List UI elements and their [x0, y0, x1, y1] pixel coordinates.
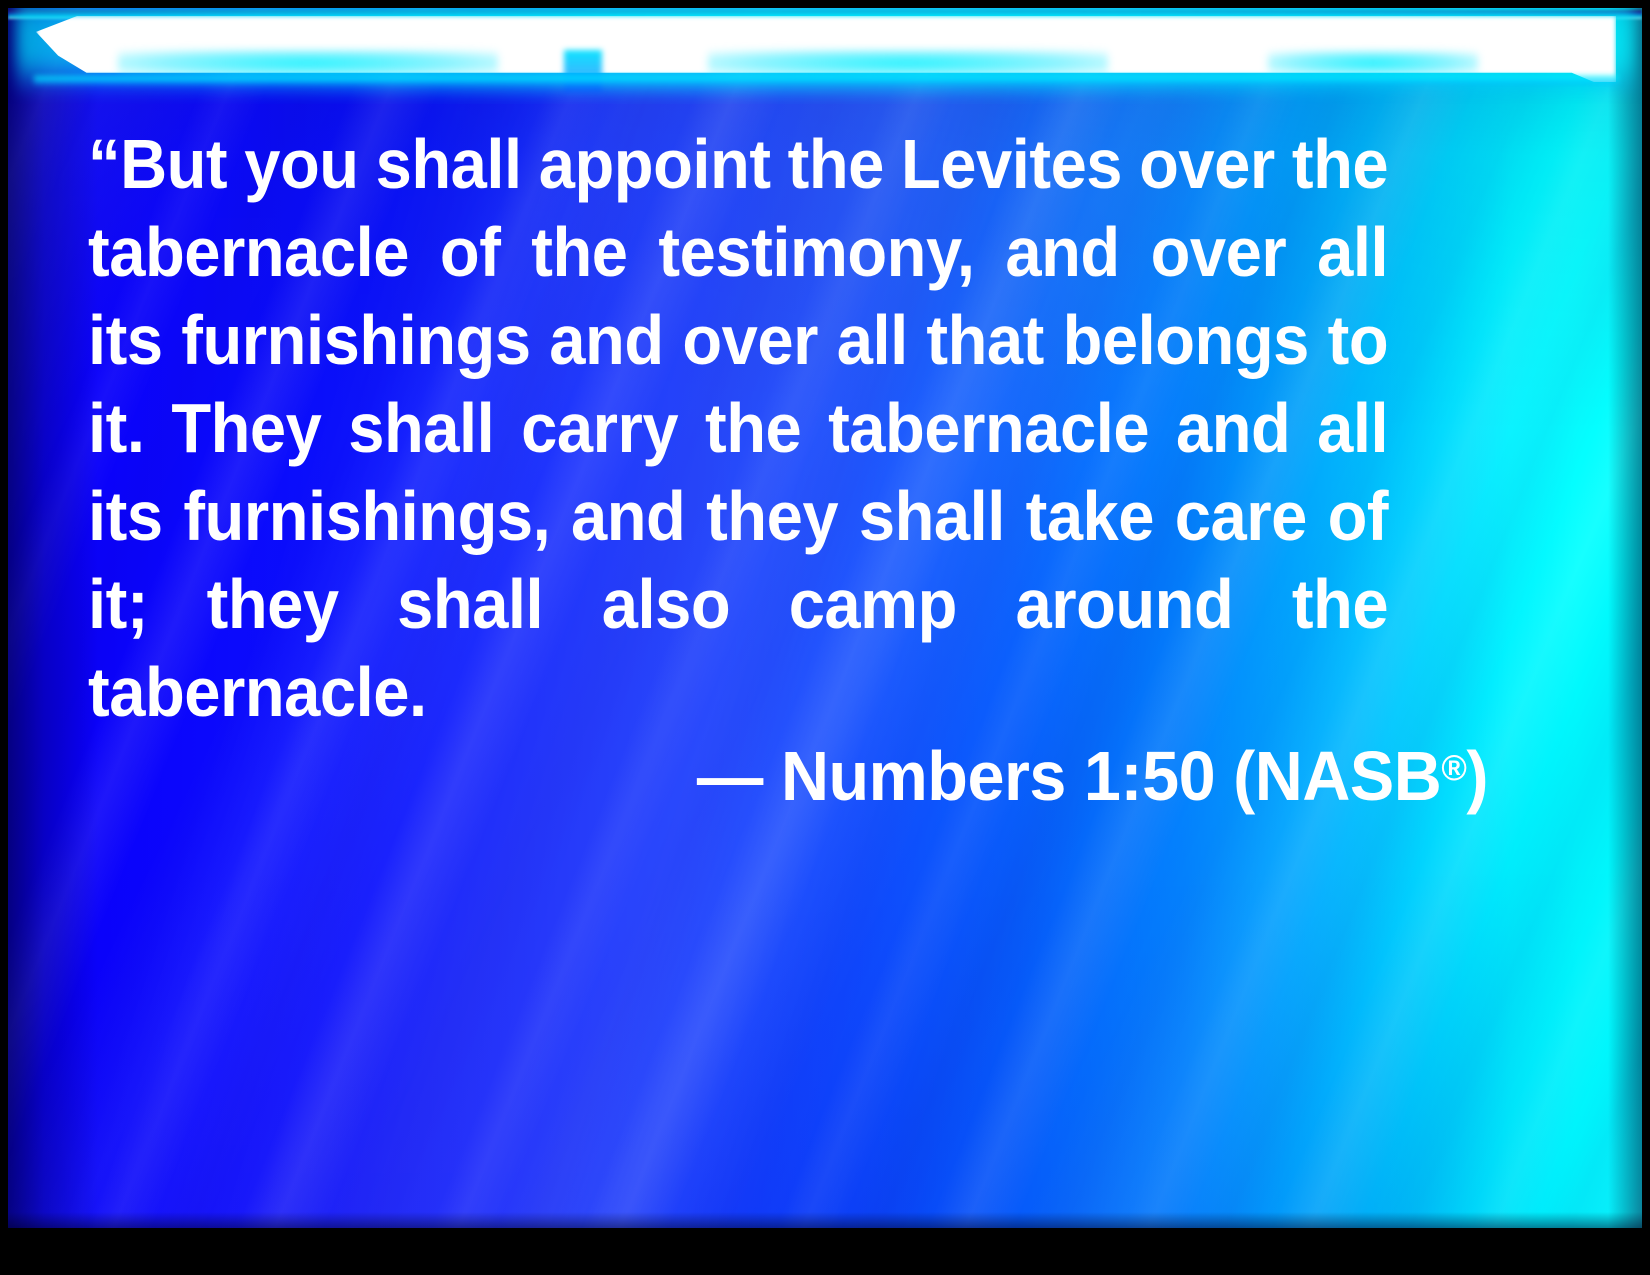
background-bottom-vignette	[8, 1212, 1642, 1228]
verse-word: care	[1175, 472, 1307, 560]
background-right-vignette	[1608, 8, 1642, 1228]
verse-word: and	[1176, 384, 1290, 472]
verse-word: of	[1328, 472, 1389, 560]
verse-word: shall	[348, 384, 494, 472]
verse-word: the	[705, 384, 801, 472]
verse-word: over	[1139, 120, 1275, 208]
verse-word: and	[1005, 208, 1119, 296]
verse-word: the	[1292, 120, 1388, 208]
glow-bar-cyan-blob-right	[1268, 51, 1478, 75]
verse-word: take	[1026, 472, 1154, 560]
verse-word: all	[1317, 208, 1388, 296]
background-left-vignette	[8, 8, 98, 1228]
glow-bar-cyan-blob-left	[118, 50, 498, 76]
verse-word: also	[602, 560, 730, 648]
verse-word: over	[1151, 208, 1287, 296]
verse-word: tabernacle	[88, 208, 409, 296]
verse-word: furnishings,	[183, 472, 550, 560]
verse-word: They	[171, 384, 321, 472]
verse-word: and	[549, 296, 663, 384]
verse-word: it.	[88, 384, 144, 472]
verse-slide: “ButyoushallappointtheLevitesoverthetabe…	[0, 0, 1650, 1275]
verse-word: all	[1317, 384, 1388, 472]
verse-word: testimony,	[658, 208, 974, 296]
verse-word: Levites	[901, 120, 1122, 208]
verse-word: its	[88, 472, 163, 560]
verse-word: all	[837, 296, 908, 384]
verse-line: tabernacle.	[88, 648, 1388, 736]
attribution-dash: —	[697, 737, 763, 815]
verse-word: you	[244, 120, 358, 208]
attribution-reference: 1:50	[1084, 737, 1215, 815]
verse-word: the	[1292, 560, 1388, 648]
registered-trademark-icon: ®	[1441, 747, 1466, 788]
verse-word: it;	[88, 560, 148, 648]
verse-word: that	[926, 296, 1043, 384]
verse-word: around	[1015, 560, 1233, 648]
verse-word: they	[706, 472, 838, 560]
glow-bar-underline	[34, 76, 1618, 86]
verse-word: shall	[397, 560, 543, 648]
verse-word: over	[682, 296, 818, 384]
verse-line: itsfurnishingsandoverallthatbelongsto	[88, 296, 1388, 384]
attribution-open-paren: (	[1233, 737, 1255, 815]
verse-line: “ButyoushallappointtheLevitesoverthe	[88, 120, 1388, 208]
verse-line-list: “ButyoushallappointtheLevitesoverthetabe…	[88, 120, 1488, 736]
glow-bar-cyan-blob-center	[708, 50, 1108, 76]
verse-attribution: — Numbers 1:50 (NASB®)	[158, 724, 1488, 820]
verse-word: to	[1328, 296, 1389, 384]
verse-word: appoint	[539, 120, 771, 208]
verse-line: it.Theyshallcarrythetabernacleandall	[88, 384, 1388, 472]
verse-line: it;theyshallalsocamparoundthe	[88, 560, 1388, 648]
verse-word: “But	[88, 120, 227, 208]
verse-word: camp	[789, 560, 957, 648]
verse-word: shall	[376, 120, 522, 208]
verse-word: the	[788, 120, 884, 208]
verse-word: of	[440, 208, 501, 296]
top-glow-bar	[8, 8, 1642, 104]
verse-word: carry	[521, 384, 678, 472]
verse-word: they	[207, 560, 339, 648]
verse-word: its	[88, 296, 163, 384]
attribution-book: Numbers	[781, 737, 1066, 815]
verse-word: belongs	[1063, 296, 1309, 384]
slide-canvas: “ButyoushallappointtheLevitesoverthetabe…	[8, 8, 1642, 1228]
verse-word: tabernacle.	[88, 648, 427, 736]
attribution-translation: NASB	[1255, 737, 1442, 815]
verse-text-block: “ButyoushallappointtheLevitesoverthetabe…	[88, 120, 1488, 736]
attribution-close-paren: )	[1466, 737, 1488, 815]
verse-line: tabernacleofthetestimony,andoverall	[88, 208, 1388, 296]
verse-word: furnishings	[181, 296, 530, 384]
verse-word: the	[531, 208, 627, 296]
verse-word: tabernacle	[828, 384, 1149, 472]
verse-word: shall	[859, 472, 1005, 560]
verse-line: itsfurnishings,andtheyshalltakecareof	[88, 472, 1388, 560]
verse-word: and	[571, 472, 685, 560]
